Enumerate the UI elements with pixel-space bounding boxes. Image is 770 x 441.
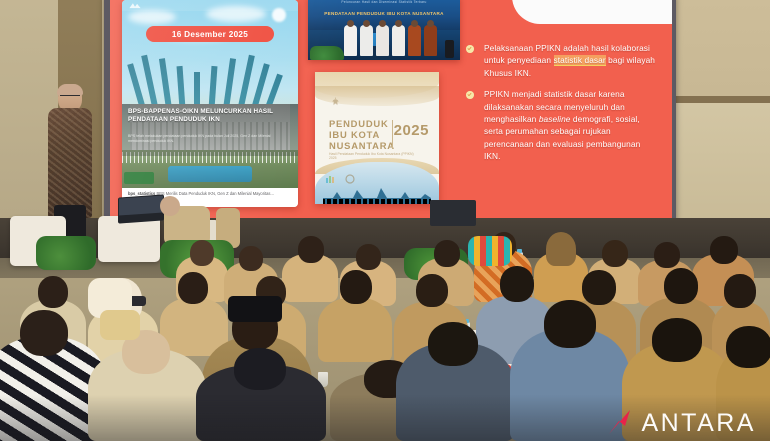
ikn-watermark-logo [128, 2, 142, 10]
reflecting-pool [168, 166, 252, 182]
stage-plant [310, 46, 344, 60]
stage-speaker-box [445, 40, 454, 58]
stage-person-1 [344, 25, 357, 56]
book-footer-logos [325, 174, 355, 184]
stage-person-6 [424, 25, 437, 56]
watermark-bar: ANTARA [0, 395, 770, 441]
peci-cap [228, 296, 282, 322]
slide-date-text: 16 Desember 2025 [172, 30, 248, 39]
slide-bullet-list: Pelaksanaan PPIKN adalah hasil kolaboras… [466, 42, 656, 172]
bullet-1-highlight: statistik dasar [554, 55, 606, 65]
antara-arrow-icon [606, 407, 636, 437]
book-year: 2025 [394, 122, 429, 139]
bullet-2-italic: baseline [539, 114, 571, 124]
check-circle-icon [466, 91, 474, 99]
book-corner-bracket [409, 72, 439, 102]
instagram-post-card: 16 Desember 2025 BPS-BAPPENAS-OIKN MELUN… [122, 0, 298, 207]
presentation-slide: 16 Desember 2025 BPS-BAPPENAS-OIKN MELUN… [110, 0, 672, 220]
wall-trim [672, 96, 770, 103]
book-title-line3: NUSANTARA [329, 140, 395, 151]
watermark-brand: ANTARA [641, 409, 756, 437]
launch-event-photo: Peluncuran Hasil dan Diseminasi Statisti… [308, 0, 460, 60]
book-garuda-emblem [329, 96, 342, 109]
book-title: PENDUDUK IBU KOTA NUSANTARA [329, 118, 395, 151]
presenter-batik-shirt [48, 108, 92, 218]
banner-subtitle: Peluncuran Hasil dan Diseminasi Statisti… [308, 0, 460, 4]
publication-book-cover: PENDUDUK IBU KOTA NUSANTARA 2025 Hasil P… [315, 72, 439, 204]
banner-title: PENDATAAN PENDUDUK IBU KOTA NUSANTARA [308, 11, 460, 16]
slide-logo-panel [512, 0, 672, 24]
presenter-glasses [60, 95, 80, 100]
ig-headline: BPS-BAPPENAS-OIKN MELUNCURKAN HASIL PEND… [128, 108, 292, 123]
bullet-item-1: Pelaksanaan PPIKN adalah hasil kolaboras… [466, 42, 656, 79]
slide-date-badge: 16 Desember 2025 [146, 26, 274, 42]
green-patch [124, 172, 154, 184]
bullet-item-2: PPIKN menjadi statistik dasar karena dil… [466, 88, 656, 162]
stage-person-5 [408, 25, 421, 56]
confidence-monitor [430, 200, 476, 226]
book-title-line2: IBU KOTA [329, 129, 395, 140]
hijab-drape [100, 310, 140, 340]
stage-person-4 [392, 25, 405, 56]
stage-person-2 [360, 25, 373, 56]
patterned-headscarf [468, 236, 512, 266]
ig-subheadline: BPS telah melakukan pendataan penduduk I… [128, 134, 280, 143]
audience-member [318, 270, 392, 362]
panel-armchair-center [98, 216, 160, 262]
ikn-building-photo: 16 Desember 2025 BPS-BAPPENAS-OIKN MELUN… [122, 0, 298, 188]
press-photo: 16 Desember 2025 BPS-BAPPENAS-OIKN MELUN… [0, 0, 770, 441]
stage-person-3 [376, 25, 389, 56]
book-building-silhouette [323, 186, 431, 204]
check-circle-icon [466, 45, 474, 53]
decor-plant-left [36, 236, 96, 270]
book-title-line1: PENDUDUK [329, 118, 395, 129]
